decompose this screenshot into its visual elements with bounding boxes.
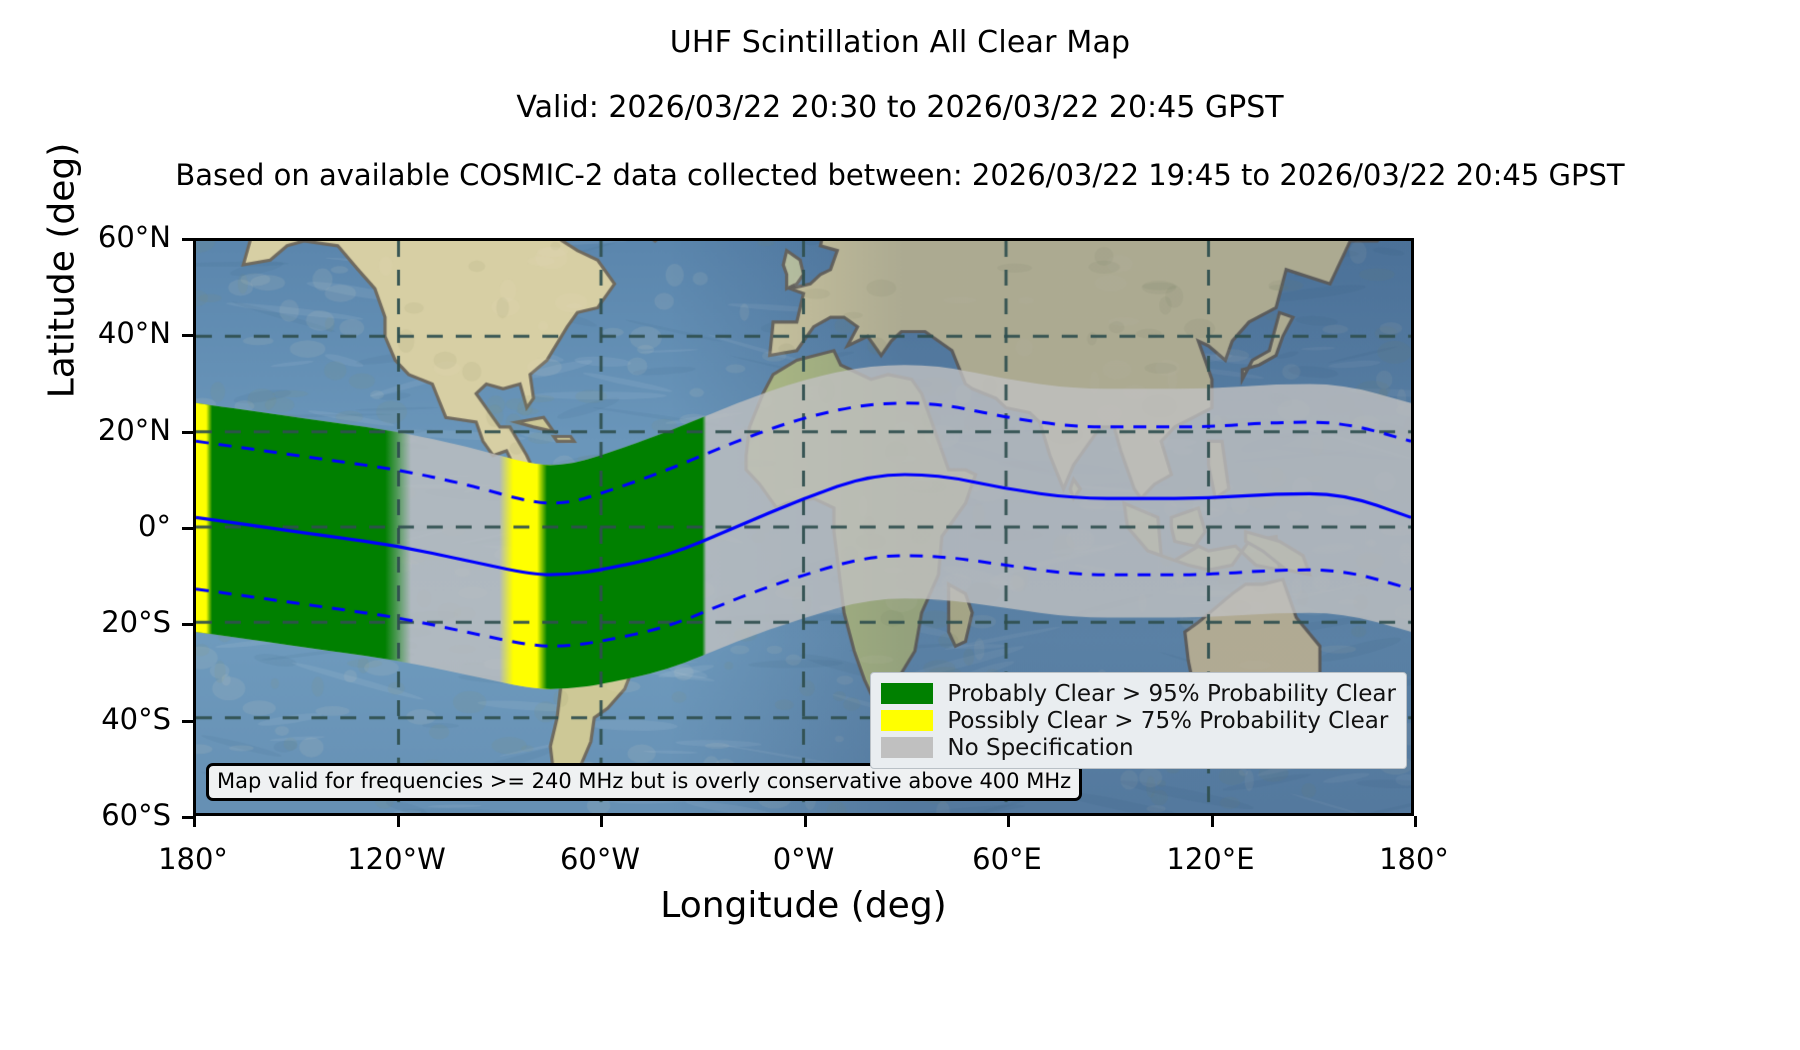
y-tick-mark-1 [182, 334, 193, 337]
y-tick-mark-2 [182, 431, 193, 434]
y-tick-label-4: 20°S [0, 608, 171, 637]
x-tick-label-3: 0°W [694, 845, 914, 874]
x-tick-mark-0 [193, 816, 196, 827]
legend-label-no-specification: No Specification [947, 735, 1133, 761]
legend-label-possibly-clear: Possibly Clear > 75% Probability Clear [947, 708, 1388, 734]
legend-label-probably-clear: Probably Clear > 95% Probability Clear [947, 681, 1396, 707]
x-tick-mark-3 [804, 816, 807, 827]
map-legend: Probably Clear > 95% Probability ClearPo… [870, 672, 1407, 769]
legend-swatch-no-specification [881, 737, 933, 758]
x-axis-label: Longitude (deg) [193, 885, 1414, 926]
legend-swatch-probably-clear [881, 683, 933, 704]
map-plot-area[interactable]: Map valid for frequencies >= 240 MHz but… [193, 238, 1414, 816]
valid-period-subtitle: Valid: 2026/03/22 20:30 to 2026/03/22 20… [0, 90, 1800, 125]
x-tick-label-1: 120°W [287, 845, 507, 874]
y-tick-label-5: 40°S [0, 705, 171, 734]
y-tick-label-2: 20°N [0, 416, 171, 445]
x-tick-label-6: 180° [1304, 845, 1524, 874]
x-tick-label-5: 120°E [1101, 845, 1321, 874]
data-source-subtitle: Based on available COSMIC-2 data collect… [0, 158, 1800, 192]
page-title: UHF Scintillation All Clear Map [0, 25, 1800, 60]
y-tick-mark-5 [182, 720, 193, 723]
x-tick-label-2: 60°W [490, 845, 710, 874]
y-tick-mark-4 [182, 623, 193, 626]
x-tick-mark-4 [1007, 816, 1010, 827]
y-tick-mark-6 [182, 816, 193, 819]
x-tick-mark-1 [397, 816, 400, 827]
x-tick-label-0: 180° [83, 845, 303, 874]
y-tick-label-0: 60°N [0, 223, 171, 252]
y-tick-mark-3 [182, 527, 193, 530]
legend-row-possibly-clear: Possibly Clear > 75% Probability Clear [881, 707, 1396, 734]
y-tick-label-1: 40°N [0, 319, 171, 348]
x-tick-label-4: 60°E [897, 845, 1117, 874]
y-tick-label-3: 0° [0, 512, 171, 541]
y-tick-label-6: 60°S [0, 801, 171, 830]
x-tick-mark-5 [1211, 816, 1214, 827]
y-tick-mark-0 [182, 238, 193, 241]
legend-swatch-possibly-clear [881, 710, 933, 731]
x-tick-mark-2 [600, 816, 603, 827]
legend-row-probably-clear: Probably Clear > 95% Probability Clear [881, 680, 1396, 707]
legend-row-no-specification: No Specification [881, 734, 1396, 761]
x-tick-mark-6 [1414, 816, 1417, 827]
